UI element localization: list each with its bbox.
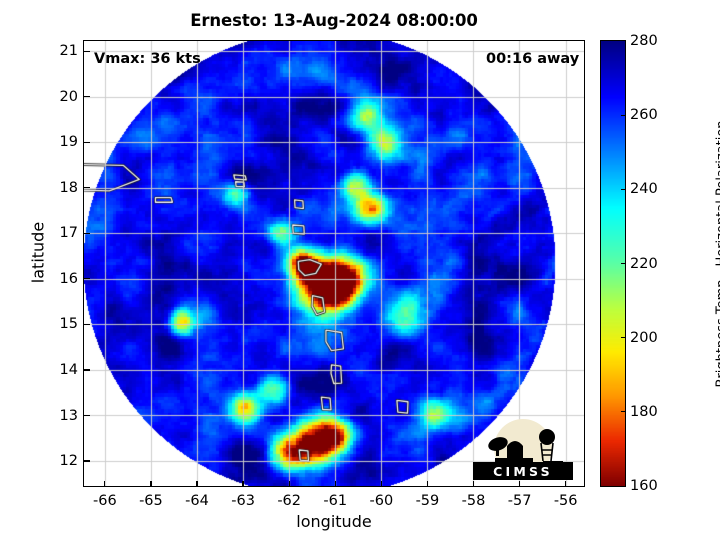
x-tick-mark [565,481,566,487]
y-tick-label: 19 [48,135,78,150]
x-axis-tick-labels: -66-65-64-63-62-61-60-59-58-57-56 [83,494,585,514]
x-tick-mark [381,481,382,487]
y-tick-mark [84,369,90,370]
x-tick-mark [150,481,151,487]
x-tick-mark [289,481,290,487]
y-tick-mark [84,142,90,143]
colorbar-gradient [601,41,625,486]
y-tick-label: 12 [48,454,78,469]
x-tick-mark [519,481,520,487]
colorbar [600,40,626,487]
y-axis-title: latitude [29,193,48,313]
y-axis-tick-labels: 12131415161718192021 [44,40,78,487]
y-tick-mark [84,278,90,279]
x-tick-label: -56 [544,494,588,509]
figure-canvas: Ernesto: 13-Aug-2024 08:00:00 Vmax: 36 k… [0,0,720,540]
colorbar-tick-label: 220 [630,257,658,272]
y-tick-label: 14 [48,363,78,378]
x-tick-mark [335,481,336,487]
x-tick-label: -64 [175,494,219,509]
y-tick-label: 15 [48,317,78,332]
y-tick-label: 20 [48,90,78,105]
colorbar-tick-label: 160 [630,479,658,494]
colorbar-tick-label: 280 [630,34,658,49]
y-tick-label: 17 [48,226,78,241]
colorbar-tick-label: 180 [630,405,658,420]
x-axis-title: longitude [83,512,585,531]
y-tick-mark [84,460,90,461]
y-tick-mark [84,51,90,52]
x-tick-mark [473,481,474,487]
x-tick-label: -59 [405,494,449,509]
x-tick-mark [104,481,105,487]
y-tick-mark [84,233,90,234]
colorbar-tick-label: 200 [630,331,658,346]
y-tick-label: 13 [48,409,78,424]
x-tick-label: -63 [221,494,265,509]
x-tick-label: -66 [83,494,127,509]
colorbar-tick-labels: 160180200220240260280 [630,40,670,487]
x-tick-mark [242,481,243,487]
cimss-logo: CIMSS [471,418,575,480]
vmax-annotation: Vmax: 36 kts [94,51,201,67]
x-tick-label: -65 [129,494,173,509]
colorbar-tick-label: 240 [630,182,658,197]
x-tick-mark [427,481,428,487]
y-tick-mark [84,324,90,325]
y-tick-label: 16 [48,272,78,287]
colorbar-title: Brightness Temp - Horizontal Polarizatio… [715,128,720,388]
x-tick-label: -61 [313,494,357,509]
page-title: Ernesto: 13-Aug-2024 08:00:00 [83,11,585,30]
y-tick-mark [84,187,90,188]
y-tick-label: 18 [48,181,78,196]
colorbar-tick-label: 260 [630,108,658,123]
y-tick-label: 21 [48,44,78,59]
x-tick-mark [196,481,197,487]
x-tick-label: -62 [267,494,311,509]
y-tick-mark [84,96,90,97]
x-tick-label: -60 [359,494,403,509]
time-away-annotation: 00:16 away [486,51,579,67]
y-tick-mark [84,415,90,416]
x-tick-label: -58 [452,494,496,509]
cimss-logo-text: CIMSS [493,464,553,479]
x-tick-label: -57 [498,494,542,509]
